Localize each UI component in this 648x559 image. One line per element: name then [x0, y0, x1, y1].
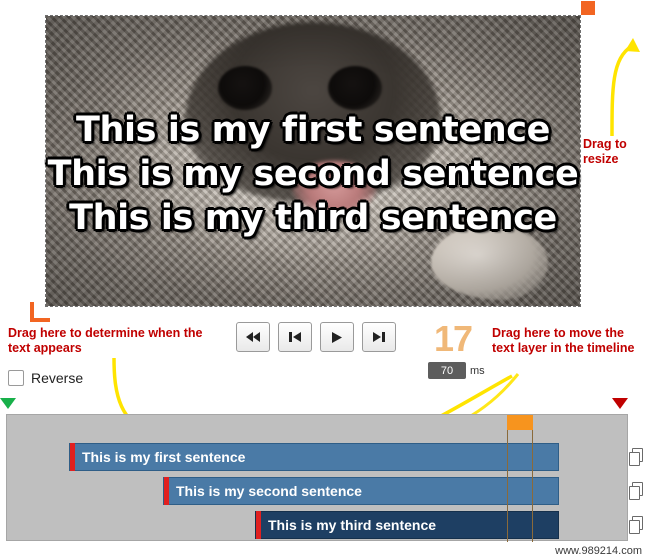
- callout-drag-when-text: Drag here to determine when the text app…: [8, 326, 202, 355]
- reverse-label: Reverse: [31, 370, 83, 386]
- watermark: www.989214.com: [555, 545, 642, 557]
- playhead-handle[interactable]: [507, 415, 533, 430]
- duplicate-sheet-front: [629, 520, 640, 534]
- callout-drag-move-text: Drag here to move the text layer in the …: [492, 326, 634, 355]
- reverse-checkbox[interactable]: [8, 370, 24, 386]
- timeline-marker-row: [0, 398, 648, 412]
- timeline-panel[interactable]: This is my first sentence This is my sec…: [6, 414, 628, 541]
- duplicate-layer-icon[interactable]: [629, 448, 644, 465]
- frame-number: 17: [434, 318, 472, 360]
- track-3-label: This is my third sentence: [268, 517, 436, 533]
- duplicate-layer-icon[interactable]: [629, 516, 644, 533]
- track-1-start-handle[interactable]: [70, 443, 75, 471]
- timeline-track-3[interactable]: This is my third sentence: [255, 511, 559, 539]
- duplicate-sheet-front: [629, 452, 640, 466]
- transport-controls[interactable]: [236, 322, 396, 352]
- timeline-track-1[interactable]: This is my first sentence: [69, 443, 559, 471]
- timeline-track-2[interactable]: This is my second sentence: [163, 477, 559, 505]
- step-forward-icon: [372, 331, 386, 343]
- play-icon: [331, 331, 343, 344]
- play-button[interactable]: [320, 322, 354, 352]
- timeline-start-marker[interactable]: [0, 398, 16, 409]
- skip-to-start-button[interactable]: [236, 322, 270, 352]
- duplicate-sheet-front: [629, 486, 640, 500]
- resize-handle-top-right[interactable]: [581, 1, 595, 15]
- frame-duration-field[interactable]: 70 ms: [428, 362, 485, 379]
- track-1-label: This is my first sentence: [82, 449, 245, 465]
- playhead-line-right: [532, 415, 533, 542]
- resize-handle-bottom-left[interactable]: [30, 302, 50, 322]
- caption-line-3: This is my third sentence: [69, 201, 557, 236]
- frame-duration-input[interactable]: 70: [428, 362, 466, 379]
- caption-line-2: This is my second sentence: [48, 157, 579, 192]
- track-2-start-handle[interactable]: [164, 477, 169, 505]
- playhead-line-left: [507, 415, 508, 542]
- caption-text-layer[interactable]: This is my first sentence This is my sec…: [46, 16, 580, 306]
- arrow-to-resize-handle: [576, 18, 642, 140]
- duplicate-layer-icon[interactable]: [629, 482, 644, 499]
- callout-drag-to-move-layer: Drag here to move the text layer in the …: [492, 326, 642, 356]
- callout-drag-to-resize: Drag to resize: [583, 137, 645, 167]
- step-forward-button[interactable]: [362, 322, 396, 352]
- track-2-label: This is my second sentence: [176, 483, 362, 499]
- reverse-option[interactable]: Reverse: [8, 370, 83, 386]
- timeline-end-marker[interactable]: [612, 398, 628, 409]
- track-3-start-handle[interactable]: [256, 511, 261, 539]
- step-back-icon: [288, 331, 302, 343]
- frame-duration-unit: ms: [470, 365, 485, 377]
- callout-drag-when-text-appears: Drag here to determine when the text app…: [8, 326, 208, 356]
- step-back-button[interactable]: [278, 322, 312, 352]
- caption-line-1: This is my first sentence: [76, 113, 550, 148]
- skip-back-icon: [245, 331, 261, 343]
- preview-canvas[interactable]: This is my first sentence This is my sec…: [46, 16, 580, 306]
